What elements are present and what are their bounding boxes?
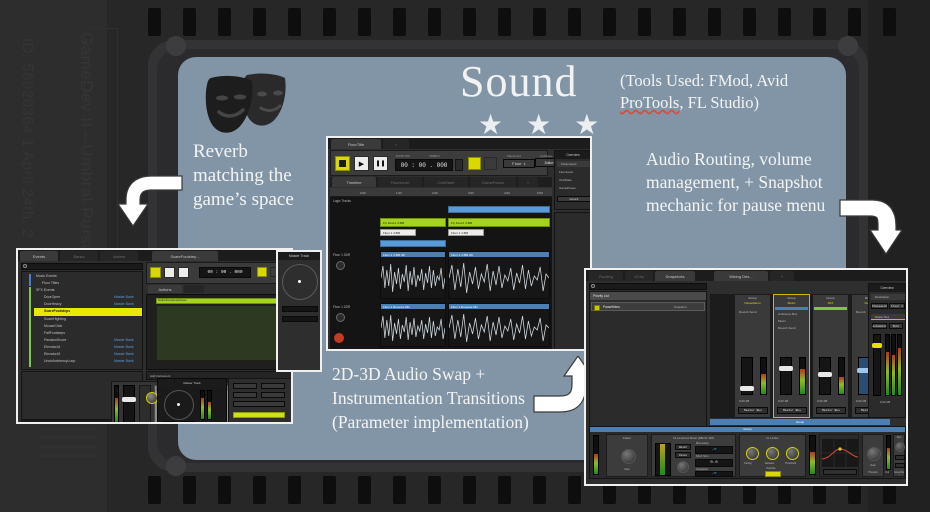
strip-send[interactable]: Music [778, 319, 786, 323]
overview-value: 0.00 dB [880, 400, 890, 404]
master-meter [114, 385, 119, 423]
module-title: Fader [607, 436, 647, 440]
loop-button[interactable] [468, 157, 481, 170]
poster-canvas: ID: 56920364 1 April 24th, 2 GameDev II … [0, 0, 930, 512]
bezel-screw-top-right [838, 36, 858, 56]
tab-snapshots[interactable]: Snapshots [655, 271, 695, 281]
list-item-name: PauseMenu [603, 305, 620, 309]
effects-rack[interactable]: Group Fader Gain FL Loudness Meter (EBU … [589, 426, 906, 479]
tab-vcas[interactable]: VCAs [625, 271, 653, 281]
overview-section-parameters[interactable]: Parameters [557, 161, 591, 167]
momentary-label: Momentary [696, 442, 709, 445]
tree-item-label[interactable]: ElevatorUI [44, 345, 60, 349]
master-slot[interactable] [139, 385, 151, 423]
center-overview-panel[interactable]: Overview Parameters FloorLevel OobState … [554, 150, 592, 210]
waveform-clip[interactable]: Floor 1 4 BM 2D [448, 251, 550, 299]
section-label: Parameters [561, 162, 577, 166]
overview-button[interactable]: Mute [889, 323, 903, 329]
tree-item-label[interactable]: Music Events [36, 274, 57, 278]
knob-gain[interactable] [746, 447, 759, 460]
tab-mixing-add[interactable]: + [770, 271, 794, 281]
tree-item-label[interactable]: ParadoxSnore [44, 338, 66, 342]
module-title: FL Limiter [740, 436, 805, 440]
overview-meter [897, 334, 902, 396]
waveform-label: Floor 1 Reverse Mix [451, 305, 478, 309]
override-label: Override [766, 467, 776, 470]
strip-color-bar [814, 307, 847, 310]
search-input[interactable] [589, 283, 707, 290]
waveform-label: Floor 1 4 BM 2D [451, 253, 473, 257]
waveform-label: Floor 1 Reverse Mix [383, 305, 410, 309]
waveform-clip[interactable]: Floor 1 4 BM 3D [380, 251, 446, 299]
center-window-body: FloorTitle + ▶ ❚❚ POSITION TEMPO 00 : 00… [328, 138, 590, 349]
stop-button[interactable] [335, 156, 350, 171]
strip-fader[interactable] [780, 357, 792, 395]
search-icon [591, 284, 595, 288]
integrated-value: -∞ [695, 471, 733, 477]
strip-name: SFX [813, 301, 848, 305]
override-toggle[interactable] [765, 471, 781, 477]
knob-release[interactable] [786, 447, 799, 460]
tools-used-note: (Tools Used: FMod, Avid ProTools, FL Stu… [620, 70, 850, 114]
callout-routing: Audio Routing, volume management, + Snap… [646, 148, 846, 217]
overview-fader[interactable] [873, 334, 881, 396]
reset-button[interactable]: Reset [675, 444, 691, 450]
knob-label: Gain [863, 464, 883, 467]
center-transport-bar[interactable]: ▶ ❚❚ POSITION TEMPO 00 : 00 . 000 Placem… [330, 150, 548, 176]
short-term-value: 0.0 [695, 459, 733, 467]
bezel-screw-bottom-left [166, 456, 186, 476]
tab-routing[interactable]: Routing [589, 271, 623, 281]
tree-item-bank: Master Bank [114, 302, 134, 306]
timeline-ruler[interactable]: 0:00 1:00 2:00 3:00 4:00 5:00 [330, 188, 552, 197]
module-title: FL Loudness Meter (EBU R 128) [652, 436, 735, 440]
group-bar-label: Group [710, 420, 890, 424]
rack-header: Group [590, 427, 905, 432]
tree-item-label[interactable]: ElevatorUI [44, 352, 60, 356]
right-overview-title: Overview [869, 284, 905, 292]
screenshot-right-fmod-mixer[interactable]: Routing VCAs Snapshots Mixing Des... + P… [584, 268, 908, 486]
page-title: Sound [460, 56, 577, 107]
tree-item-label[interactable]: DoorHeavy [44, 302, 62, 306]
track-name[interactable]: Floor 1 2DR [333, 305, 350, 309]
search-icon [23, 264, 27, 268]
strip-name: Music [774, 301, 809, 305]
search-input[interactable] [21, 263, 143, 270]
rack-loudness-module[interactable]: FL Loudness Meter (EBU R 128) Reset Paus… [651, 434, 736, 477]
tab-scarefootstep[interactable]: ScareFootstep... [152, 251, 218, 261]
transport-bar[interactable]: 00 : 00 . 000 [146, 262, 292, 284]
gain-knob[interactable] [867, 447, 881, 461]
timeline-clip-white[interactable]: Floor 1 4 BM [380, 229, 416, 236]
watermark-id: ID: 56920364 1 April 24th, 2 [19, 38, 36, 238]
clip-label: Fly Floor1 4 BM [383, 221, 404, 225]
group-bar[interactable]: Group [710, 419, 890, 425]
field-value[interactable]: Floor 1 [503, 159, 535, 168]
ruler-tick: 3:00 [468, 191, 474, 195]
master-fader[interactable] [123, 385, 135, 423]
snapshot-icon [594, 305, 600, 311]
right-window-body: Routing VCAs Snapshots Mixing Des... + P… [586, 270, 906, 484]
overview-meter [891, 334, 896, 396]
track-mute-knob[interactable] [336, 313, 345, 322]
strip-kind: Group [813, 296, 848, 300]
strip-output[interactable]: Master Bus [738, 407, 768, 414]
priority-list-label: Priority List [593, 294, 609, 298]
logic-tracks-label: Logic Tracks [333, 199, 351, 203]
tools-prefix: (Tools Used: FMod, Avid [620, 71, 788, 90]
right-overview-panel[interactable]: Overview Destination Placement Floor 1 M… [868, 283, 906, 418]
tempo-stepper[interactable] [455, 159, 463, 171]
param-tab-floorlevel[interactable]: FloorLevel [378, 177, 422, 187]
strip-meter [760, 357, 767, 395]
timeline-canvas[interactable]: Logic Tracks Fly Floor1 4 BM Fly Floor1 … [330, 197, 552, 351]
bezel-screw-top-left [166, 36, 186, 56]
knob-label: Release [765, 462, 774, 465]
timeline-clip-white[interactable]: Floor 1 4 BM [448, 229, 484, 236]
tree-item-label[interactable]: MouseClick [44, 324, 62, 328]
pan-meter-l [200, 390, 205, 420]
overview-section-master[interactable]: Master Bus [871, 314, 905, 320]
fader-knob[interactable] [621, 449, 636, 464]
pan-knob[interactable] [895, 442, 905, 452]
ruler-tick: 5:00 [537, 191, 543, 195]
field-label: Placement [507, 154, 521, 158]
left-overview-title: Master Track [278, 252, 320, 260]
tree-item-bank: Master Bank [114, 345, 134, 349]
tree-item-label-selected[interactable]: ScareFootsteps [44, 309, 70, 313]
clip-waveform [156, 305, 290, 361]
left-window-body: Events Banks Assets ScareFootstep... Mus… [18, 250, 291, 422]
timeline-clip-green[interactable]: Fly Floor1 4 BM [448, 218, 550, 227]
stop-button[interactable] [150, 267, 161, 278]
module-title: Pan [894, 436, 904, 439]
knob-label: Gain [607, 468, 647, 471]
strip-send[interactable]: Reverb [856, 310, 866, 314]
mixer-strip[interactable]: Group SFX Master Bus 0.00 dB [812, 294, 849, 418]
strip-kind: Group [774, 296, 809, 300]
dest-value[interactable]: Floor 1 [889, 303, 905, 309]
pan-panel[interactable]: Master Track Direction Extent [157, 378, 227, 424]
ruler-tick: 2:00 [432, 191, 438, 195]
overview-pan-dot[interactable] [298, 280, 301, 283]
loudness-bar [660, 444, 665, 475]
ruler-tick: 1:00 [396, 191, 402, 195]
pause-button[interactable] [178, 267, 189, 278]
rack-eq-module[interactable] [819, 434, 859, 477]
section-label: Destination [875, 295, 889, 299]
knob-label: Ceiling [744, 462, 752, 465]
knob-label: Threshold [785, 462, 796, 465]
clip-label: Fly Floor1 4 BM [451, 221, 472, 225]
strip-color-bar [775, 307, 808, 310]
transport-time: 00 : 00 . 000 [395, 159, 453, 171]
left-overview-body: Master Track [278, 252, 320, 370]
strip-send[interactable]: Ambience Bus [778, 312, 797, 316]
mixer-strip[interactable]: Group PauseMenu Reverb Send Master Bus 0… [734, 294, 771, 418]
timeline-clip-blue[interactable] [380, 240, 446, 247]
strip-meter [799, 357, 806, 395]
list-header: Priority List [590, 292, 706, 300]
film-perforations-top [148, 8, 896, 36]
tools-suffix: , FL Studio) [679, 93, 759, 112]
tab-events[interactable]: Events [20, 251, 58, 261]
theater-masks-icon [199, 72, 291, 134]
param-tab-gamepause[interactable]: GamePause [470, 177, 516, 187]
pan-dot[interactable] [177, 403, 180, 406]
overview-row-label: FloorLevel [559, 170, 573, 174]
param-tab-add[interactable]: + [518, 177, 538, 187]
tree-item-label[interactable]: ScareHighting [44, 317, 66, 321]
subtab-plus[interactable] [184, 285, 204, 293]
tools-underlined-word: ProTools [620, 93, 679, 112]
strip-value: 0.00 dB [778, 399, 788, 403]
rack-input-meter [593, 435, 599, 475]
waveform-clip[interactable]: Floor 1 Reverse Mix [448, 303, 550, 347]
tree-item-bank: Master Bank [114, 352, 134, 356]
center-overview-title: Overview [555, 151, 591, 159]
rack-gain-module[interactable]: Gain Preview [862, 434, 884, 477]
list-item-tag: Snapshot [674, 305, 687, 309]
pan-panel-title: Master Track [158, 379, 226, 387]
param-tab-oobstate[interactable]: OobState [424, 177, 468, 187]
pan-extent-value: Extent [180, 421, 195, 424]
timeline-clip-green[interactable]: Fly Floor1 4 BM [380, 218, 446, 227]
overview-row-label: GamePause [559, 186, 576, 190]
tab-add[interactable]: + [383, 139, 409, 149]
tree-item-label[interactable]: DoorOpen [44, 295, 60, 299]
knob-ceiling[interactable] [766, 447, 779, 460]
track-name[interactable]: Floor 1 3DR [333, 253, 350, 257]
pan-direction-value: Direction [162, 421, 177, 424]
loudness-knob[interactable] [677, 461, 689, 473]
strip-value: 0.00 dB [739, 399, 749, 403]
event-tree-panel[interactable]: Music Events Floor Titles SFX Events Doo… [21, 271, 143, 370]
clip-label: Floor 1 4 BM [451, 231, 468, 235]
tempo-label: TEMPO [429, 154, 440, 158]
tree-item-label[interactable]: FallFootsteps [44, 331, 65, 335]
mixer-strip-selected[interactable]: Group Music Ambience Bus Music Reverb Se… [773, 294, 810, 418]
timeline-clip-blue[interactable] [448, 206, 550, 213]
strip-fader[interactable] [819, 357, 831, 395]
tree-item-label[interactable]: Floor Titles [42, 281, 59, 285]
strip-send[interactable]: Reverb Send [778, 326, 796, 330]
clip-label: ScareFootstepsAsset [158, 298, 187, 302]
group-master-label: Group Master [894, 471, 904, 474]
instrument-track-area[interactable]: ScareFootstepsAsset [146, 294, 292, 370]
strip-output[interactable]: Master Bus [816, 407, 846, 414]
momentary-value: -∞ [695, 446, 733, 454]
preview-label: Preview [863, 471, 883, 474]
ruler-tick: 0:00 [360, 191, 366, 195]
strip-send[interactable]: Reverb Send [739, 310, 757, 314]
tree-item-label[interactable]: UnchAmbiencyLoop [44, 359, 75, 363]
short-term-label: Short Term [696, 455, 709, 458]
waveform-label: Floor 1 4 BM 3D [383, 253, 405, 257]
eq-curve-graph[interactable] [822, 439, 858, 467]
param-tab-timeline[interactable]: Timeline [332, 177, 376, 187]
dest-label: Placement [871, 303, 888, 309]
arrow-down-right-icon [838, 196, 902, 258]
tab-mixing-desk[interactable]: Mixing Des... [714, 271, 768, 281]
grid-button[interactable] [484, 157, 497, 170]
screenshot-center-fmod-timeline[interactable]: FloorTitle + ▶ ❚❚ POSITION TEMPO 00 : 00… [326, 136, 592, 351]
overview-section-destination[interactable]: Destination [871, 294, 905, 300]
rack-limiter-module[interactable]: FL Limiter Ceiling Release Threshold Ove… [739, 434, 806, 477]
rack-fader-module[interactable]: Fader Gain [606, 434, 648, 477]
strip-name: PauseMenu [735, 301, 770, 305]
arrow-up-right-icon [530, 356, 592, 416]
tree-item-bank: Master Bank [114, 338, 134, 342]
pause-button[interactable]: ❚❚ [373, 156, 388, 171]
tree-item-label[interactable]: SFX Events [36, 288, 54, 292]
play-button[interactable] [164, 267, 175, 278]
tab-assets[interactable]: Assets [100, 251, 138, 261]
waveform-clip[interactable]: Floor 1 Reverse Mix [380, 303, 446, 347]
overview-row-label: OobState [559, 178, 572, 182]
strip-value: 0.00 dB [856, 399, 866, 403]
track-record-button[interactable] [334, 333, 344, 343]
ruler-tick: 4:00 [504, 191, 510, 195]
clip-label: Floor 1 4 BM [383, 231, 400, 235]
strip-fader[interactable] [741, 357, 753, 395]
pause-button[interactable]: Pause [675, 452, 691, 458]
tree-item-bank: Master Bank [114, 295, 134, 299]
overview-meter [885, 334, 890, 396]
subtab-actions[interactable]: Actions [148, 285, 182, 293]
out-label: Out [885, 471, 889, 474]
left-output-panel[interactable] [228, 378, 292, 424]
screenshot-left-fmod-event-editor[interactable]: Events Banks Assets ScareFootstep... Mus… [16, 248, 293, 424]
rack-header-label: Group [590, 427, 905, 431]
position-label: POSITION [396, 154, 410, 158]
tab-floortitle[interactable]: FloorTitle [331, 139, 381, 149]
list-item[interactable]: PauseMenu Snapshot [591, 302, 705, 311]
screenshot-left-overview-panel[interactable]: Master Track [276, 250, 322, 372]
callout-reverb: Reverb matching the game’s space [193, 140, 323, 212]
overview-section-level: Level [557, 196, 591, 202]
strip-kind: Group [735, 296, 770, 300]
strip-value: 0.00 dB [817, 399, 827, 403]
play-button[interactable]: ▶ [354, 156, 369, 171]
arrow-down-left-icon [118, 172, 184, 230]
overview-button[interactable]: Automatic [872, 323, 887, 329]
tab-banks[interactable]: Banks [60, 251, 98, 261]
section-label: Master Bus [875, 315, 889, 319]
pan-meter-r [207, 390, 212, 420]
watermark-project-title: GameDev II - Umbral Pursui [76, 32, 96, 259]
track-mute-knob[interactable] [336, 261, 345, 270]
rack-output-meter [809, 435, 816, 475]
tree-item-bank: Master Bank [114, 359, 134, 363]
loop-button[interactable] [257, 267, 267, 277]
strip-meter [838, 357, 845, 395]
transport-time: 00 : 00 . 000 [199, 267, 251, 278]
rack-pan-module[interactable]: Pan Group Master [893, 434, 905, 477]
strip-output[interactable]: Master Bus [777, 407, 807, 414]
rack-gain-meter [886, 435, 891, 470]
